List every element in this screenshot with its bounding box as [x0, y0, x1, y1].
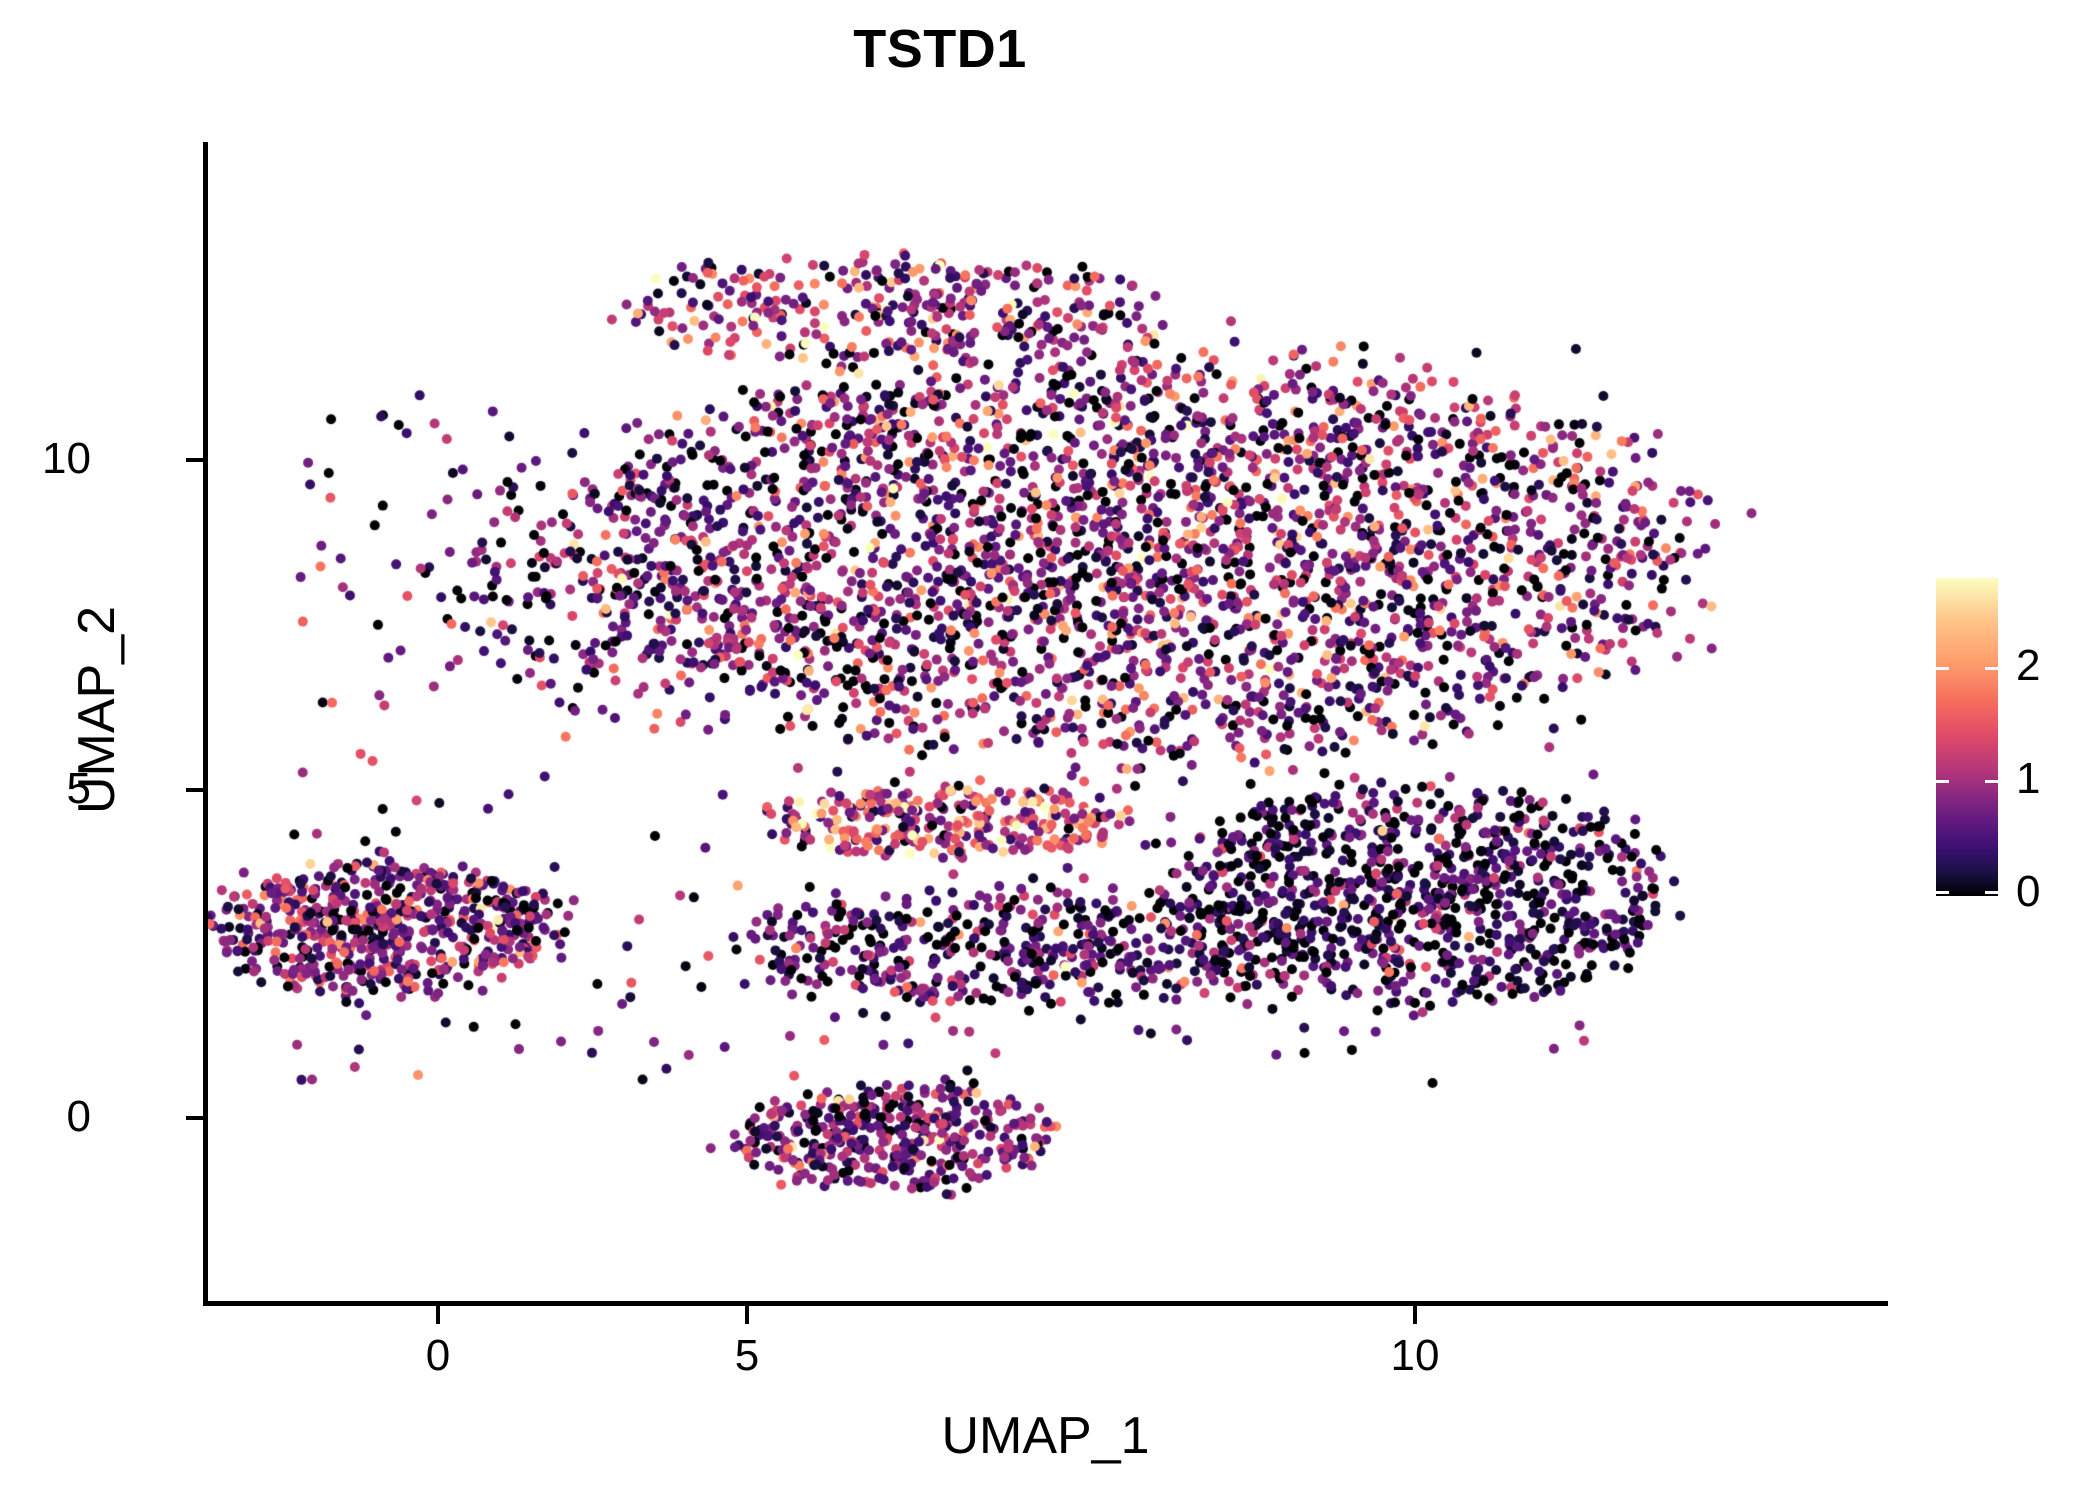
y-tick-mark-0: [186, 1116, 204, 1120]
y-tick-mark-10: [186, 458, 204, 462]
x-tick-mark-5: [745, 1306, 749, 1324]
x-tick-label-5: 5: [735, 1334, 759, 1378]
colorbar-label-2: 2: [2016, 644, 2040, 688]
page-title: TSTD1: [0, 22, 1880, 76]
y-tick-mark-5: [186, 788, 204, 792]
colorbar-legend: 2 1 0: [1936, 578, 2056, 896]
x-tick-label-10: 10: [1391, 1334, 1440, 1378]
colorbar-tick-2-left: [1936, 667, 1949, 670]
x-axis-line: [203, 1301, 1888, 1306]
scatter-points-layer: [208, 142, 1888, 1301]
x-axis-title: UMAP_1: [203, 1410, 1888, 1462]
colorbar-gradient: [1936, 578, 1998, 896]
scatter-plot-panel: [208, 142, 1888, 1301]
colorbar-tick-1-left: [1936, 780, 1949, 783]
figure-root: TSTD1 10 5 0 0 5 10 UMAP_1 UMAP_2 2 1 0: [0, 0, 2100, 1500]
y-axis-title: UMAP_2: [71, 360, 123, 1060]
y-tick-label-0: 0: [67, 1095, 91, 1139]
colorbar-label-1: 1: [2016, 757, 2040, 801]
x-tick-mark-10: [1413, 1306, 1417, 1324]
x-tick-mark-0: [436, 1306, 440, 1324]
x-tick-label-0: 0: [426, 1334, 450, 1378]
colorbar-tick-0-left: [1936, 891, 1949, 894]
colorbar-tick-0-right: [1985, 891, 1998, 894]
colorbar-tick-1-right: [1985, 780, 1998, 783]
colorbar-label-0: 0: [2016, 870, 2040, 914]
colorbar-tick-2-right: [1985, 667, 1998, 670]
